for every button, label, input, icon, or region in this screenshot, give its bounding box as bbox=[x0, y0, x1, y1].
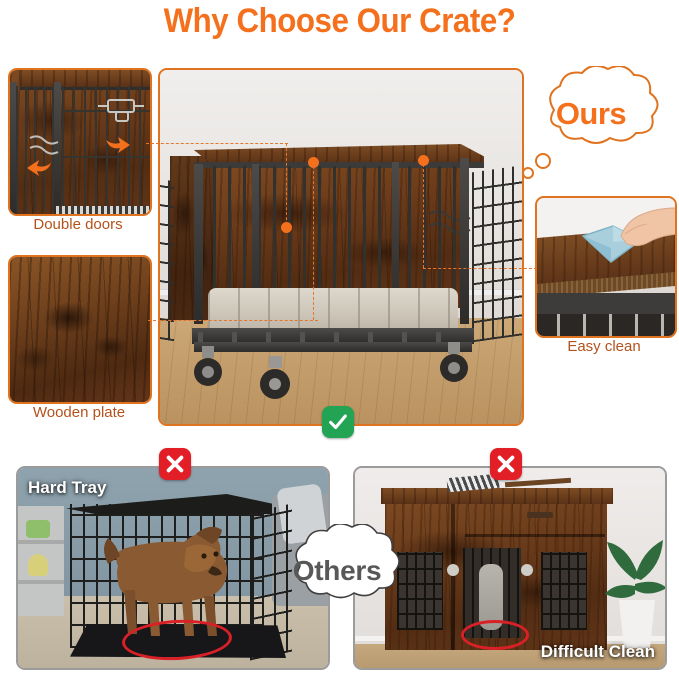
latch-small-icon bbox=[26, 132, 62, 158]
feature-panel-easy-clean bbox=[535, 196, 677, 338]
main-crate-photo bbox=[160, 70, 522, 424]
feature-panel-wooden-plate bbox=[8, 255, 152, 404]
others-speech-bubble: Others bbox=[266, 524, 408, 620]
caster-wheel-icon bbox=[256, 356, 294, 402]
latch-hardware-icon bbox=[96, 94, 148, 128]
problem-highlight-ellipse bbox=[461, 620, 529, 650]
easy-clean-photo bbox=[537, 198, 675, 336]
callout-line bbox=[286, 143, 287, 225]
callout-dot bbox=[308, 157, 319, 168]
ours-bubble-label: Ours bbox=[516, 62, 666, 166]
ours-speech-bubble: Ours bbox=[516, 66, 666, 166]
potted-plant-icon bbox=[603, 526, 667, 652]
pointer-arrow-icon bbox=[105, 136, 131, 154]
difficult-clean-overlay-label: Difficult Clean bbox=[541, 642, 655, 662]
callout-dot bbox=[418, 155, 429, 166]
hand-icon bbox=[615, 202, 677, 250]
callout-line bbox=[146, 143, 288, 144]
double-doors-photo bbox=[10, 70, 150, 214]
hard-tray-overlay-label: Hard Tray bbox=[28, 478, 106, 498]
page-title: Why Choose Our Crate? bbox=[27, 2, 652, 41]
caster-wheel-icon bbox=[190, 346, 226, 390]
feature-panel-double-doors bbox=[8, 68, 152, 216]
check-icon bbox=[327, 411, 349, 433]
pointer-arrow-icon bbox=[26, 159, 52, 177]
thought-bubble-trail-icon bbox=[516, 152, 556, 186]
caster-wheel-icon bbox=[436, 342, 472, 386]
feature-label-wooden-plate: Wooden plate bbox=[4, 404, 154, 421]
wooden-plate-photo bbox=[10, 257, 150, 402]
verdict-badge-bad-difficult-clean bbox=[490, 448, 522, 480]
infographic-root: Why Choose Our Crate? bbox=[0, 0, 679, 675]
callout-line bbox=[423, 268, 537, 269]
callout-line bbox=[148, 320, 318, 321]
feature-label-easy-clean: Easy clean bbox=[535, 338, 673, 355]
callout-line bbox=[423, 164, 424, 268]
callout-dot bbox=[281, 222, 292, 233]
cross-icon bbox=[495, 453, 517, 475]
verdict-badge-good bbox=[322, 406, 354, 438]
others-bubble-label: Others bbox=[266, 522, 408, 620]
verdict-badge-bad-hard-tray bbox=[159, 448, 191, 480]
callout-line bbox=[313, 166, 314, 320]
feature-label-double-doors: Double doors bbox=[8, 216, 148, 233]
main-photo-panel bbox=[158, 68, 524, 426]
cross-icon bbox=[164, 453, 186, 475]
